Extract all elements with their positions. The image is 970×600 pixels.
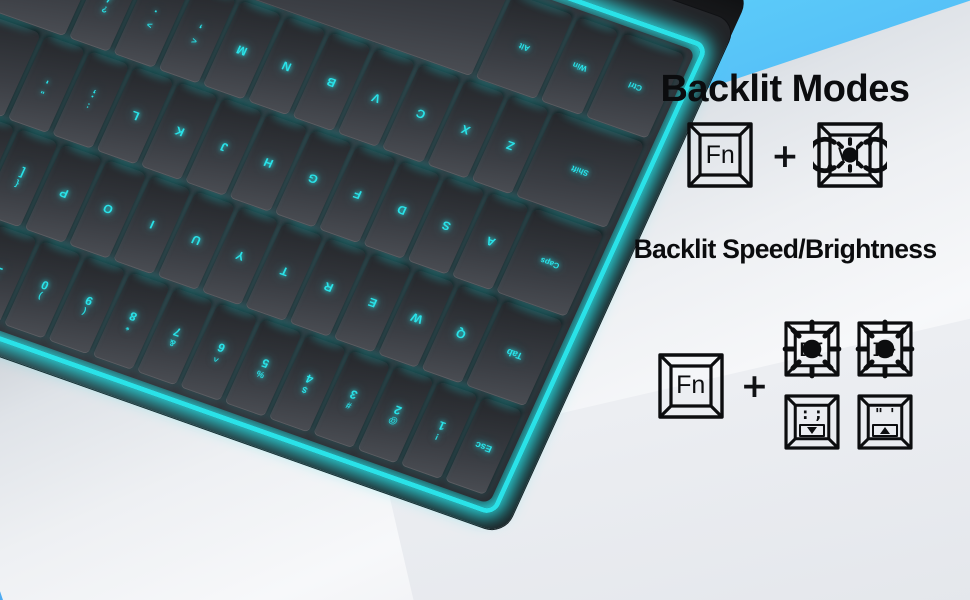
key-legend: Tab bbox=[505, 346, 524, 360]
bracket-right-keycap-glyphs: ] } bbox=[854, 318, 916, 380]
bracket-left-keycap-glyphs: [ { bbox=[781, 318, 843, 380]
key-legend: 3 bbox=[348, 388, 359, 401]
key-legend: 9 bbox=[83, 294, 94, 307]
semicolon-keycap-glyphs: : ; bbox=[781, 391, 843, 453]
key-secondary-legend: > bbox=[146, 19, 155, 29]
quote-keycap: " ' bbox=[854, 391, 916, 453]
bracket-right-keycap: ] } bbox=[854, 318, 916, 380]
infographic-stage: Esc!1@2#3$4%5^6&7*8(9)0_-+=BkspTabQWERTY… bbox=[0, 0, 970, 600]
key-legend: Q bbox=[454, 327, 468, 341]
fn-keycap-modes: Fn bbox=[683, 118, 757, 192]
semicolon-keycap: : ; bbox=[781, 391, 843, 453]
key-secondary-legend: $ bbox=[301, 384, 309, 394]
key-legend: Shift bbox=[570, 163, 590, 176]
key-secondary-legend: * bbox=[125, 322, 132, 331]
key-legend: - bbox=[0, 263, 5, 275]
key-legend: U bbox=[190, 234, 203, 248]
key-legend: [ bbox=[17, 167, 26, 179]
key-legend: Alt bbox=[518, 41, 531, 52]
quote-apostrophe-glyph: " ' bbox=[875, 407, 896, 422]
key-legend: Caps bbox=[539, 256, 561, 270]
backlit-speed-shortcut-row: Fn + [ { bbox=[600, 318, 970, 453]
brightness-speed-key-grid: [ { bbox=[781, 318, 916, 453]
key-legend: A bbox=[484, 235, 497, 249]
backlit-modes-shortcut-row: Fn + \ | bbox=[600, 118, 970, 192]
key-secondary-legend: & bbox=[168, 337, 178, 347]
backlit-speed-brightness-title: Backlit Speed/Brightness bbox=[600, 234, 970, 265]
fn-keycap-speed-label: Fn bbox=[654, 349, 728, 423]
key-legend: F bbox=[351, 188, 363, 201]
bracket-left-keycap: [ { bbox=[781, 318, 843, 380]
key-legend: T bbox=[278, 265, 290, 278]
key-secondary-legend: : bbox=[85, 101, 92, 110]
key-legend: L bbox=[129, 109, 141, 122]
key-secondary-legend: ( bbox=[81, 307, 88, 316]
key-legend: C bbox=[415, 107, 428, 121]
backlight-cycle-icon bbox=[813, 118, 887, 192]
key-secondary-legend: ! bbox=[434, 431, 441, 440]
key-legend: I bbox=[148, 219, 156, 231]
instructions-panel: Backlit Modes Fn + bbox=[600, 0, 970, 600]
sun-icon bbox=[781, 318, 843, 380]
key-secondary-legend: " bbox=[40, 85, 48, 95]
key-legend: H bbox=[262, 156, 275, 170]
key-legend: O bbox=[101, 202, 115, 216]
key-secondary-legend: { bbox=[13, 179, 20, 188]
key-legend: W bbox=[409, 311, 425, 326]
key-legend: . bbox=[151, 8, 159, 20]
key-legend: V bbox=[370, 91, 383, 105]
key-legend: , bbox=[195, 24, 203, 36]
key-secondary-legend: @ bbox=[387, 415, 399, 426]
key-legend: 7 bbox=[172, 325, 183, 338]
key-legend: 8 bbox=[128, 310, 139, 323]
key-legend: 5 bbox=[260, 356, 271, 369]
key-legend: 1 bbox=[436, 419, 447, 432]
key-secondary-legend: ? bbox=[101, 3, 110, 13]
plus-sign-modes: + bbox=[771, 139, 799, 172]
key-legend: 4 bbox=[304, 372, 315, 385]
key-legend: ' bbox=[45, 74, 53, 86]
key-secondary-legend: # bbox=[345, 400, 353, 410]
key-legend: R bbox=[322, 280, 335, 294]
arrow-down-icon bbox=[799, 424, 825, 437]
key-legend: J bbox=[218, 140, 229, 153]
key-legend: Y bbox=[234, 249, 247, 263]
plus-sign-speed: + bbox=[741, 369, 769, 402]
key-legend: D bbox=[395, 203, 408, 217]
key-legend: M bbox=[235, 43, 249, 57]
key-legend: Esc bbox=[474, 439, 494, 453]
key-legend: 6 bbox=[216, 341, 227, 354]
key-secondary-legend: ^ bbox=[212, 353, 221, 363]
semicolon-colon-glyph: : ; bbox=[802, 407, 822, 422]
key-legend: Z bbox=[505, 138, 517, 151]
sun-icon bbox=[854, 318, 916, 380]
key-legend: N bbox=[280, 59, 293, 73]
arrow-up-icon bbox=[872, 424, 898, 437]
fn-keycap-label: Fn bbox=[683, 118, 757, 192]
key-legend: K bbox=[173, 124, 186, 138]
backlit-modes-title: Backlit Modes bbox=[600, 68, 970, 111]
key-legend: E bbox=[366, 296, 379, 310]
backlight-mode-keycap: \ | bbox=[813, 118, 887, 192]
key-secondary-legend: < bbox=[190, 35, 199, 45]
key-legend: ; bbox=[89, 89, 98, 101]
key-secondary-legend: % bbox=[255, 368, 266, 379]
key-secondary-legend: ) bbox=[37, 291, 44, 300]
key-legend: 2 bbox=[392, 403, 403, 416]
key-legend: Win bbox=[571, 60, 588, 72]
fn-keycap-speed: Fn bbox=[654, 349, 728, 423]
key-legend: B bbox=[325, 75, 338, 89]
key-legend: G bbox=[306, 171, 320, 185]
key-legend: 0 bbox=[39, 278, 50, 291]
key-legend: P bbox=[57, 187, 70, 201]
quote-keycap-glyphs: " ' bbox=[854, 391, 916, 453]
key-legend: X bbox=[460, 123, 473, 137]
key-legend: S bbox=[440, 219, 453, 233]
backlight-mode-keycap-glyphs: \ | bbox=[813, 118, 887, 192]
